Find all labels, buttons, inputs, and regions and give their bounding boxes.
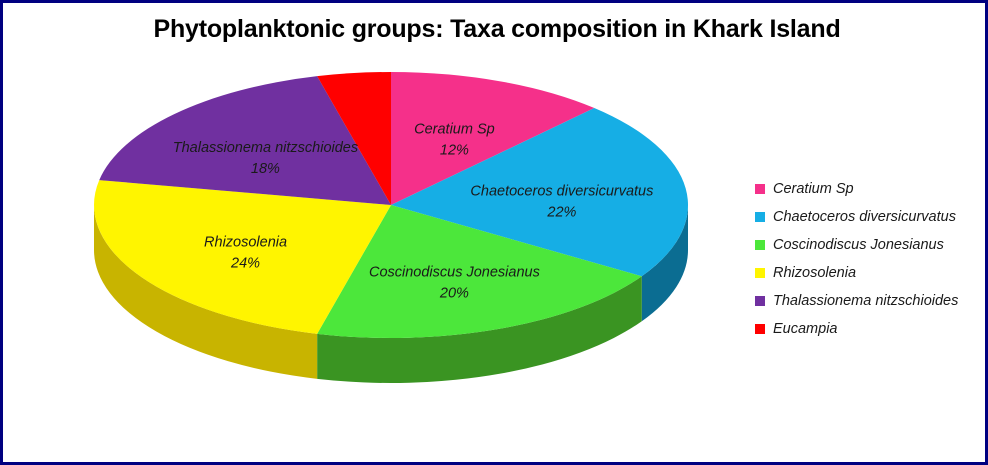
pie-slice-value: 12% [440,142,469,158]
pie-slice-label: Rhizosolenia [204,234,287,250]
pie-svg: Ceratium Sp12%Chaetoceros diversicurvatu… [3,53,743,463]
legend-item[interactable]: Chaetoceros diversicurvatus [755,203,980,231]
legend-swatch-icon [755,324,765,334]
pie-slice-label: Chaetoceros diversicurvatus [470,183,653,199]
legend-item-label: Thalassionema nitzschioides [773,293,958,309]
pie-slice-label: Thalassionema nitzschioides [173,140,358,156]
pie-slice-value: 22% [546,204,576,220]
chart-frame: Phytoplanktonic groups: Taxa composition… [0,0,988,465]
legend-item[interactable]: Eucampia [755,315,980,343]
legend-item-label: Ceratium Sp [773,181,854,197]
pie-slice-label: Ceratium Sp [414,121,495,137]
pie-slice-value: 18% [251,161,280,177]
chart-title: Phytoplanktonic groups: Taxa composition… [3,15,988,44]
legend: Ceratium SpChaetoceros diversicurvatusCo… [755,175,980,343]
legend-item-label: Coscinodiscus Jonesianus [773,237,944,253]
pie-chart: Ceratium Sp12%Chaetoceros diversicurvatu… [3,53,743,463]
legend-item[interactable]: Ceratium Sp [755,175,980,203]
legend-item[interactable]: Coscinodiscus Jonesianus [755,231,980,259]
legend-item[interactable]: Thalassionema nitzschioides [755,287,980,315]
legend-swatch-icon [755,212,765,222]
legend-swatch-icon [755,240,765,250]
legend-item[interactable]: Rhizosolenia [755,259,980,287]
legend-swatch-icon [755,184,765,194]
pie-slice-value: 20% [439,286,469,302]
legend-swatch-icon [755,268,765,278]
pie-slice-value: 24% [230,255,260,271]
pie-top-faces [94,72,688,338]
pie-slice-label: Coscinodiscus Jonesianus [369,265,540,281]
legend-swatch-icon [755,296,765,306]
legend-item-label: Rhizosolenia [773,265,856,281]
legend-item-label: Eucampia [773,321,837,337]
legend-item-label: Chaetoceros diversicurvatus [773,209,956,225]
